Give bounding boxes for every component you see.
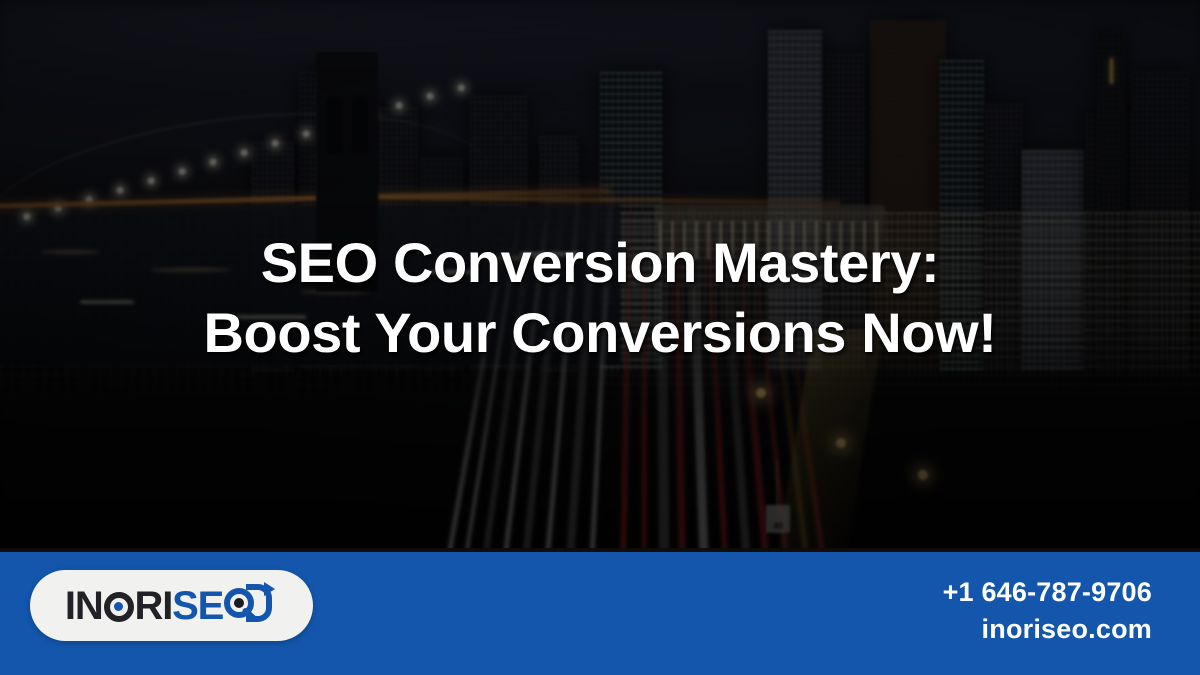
contact-block: +1 646-787-9706 inoriseo.com [943,574,1152,648]
magnifier-center-dot [234,598,244,608]
headline-line-1: SEO Conversion Mastery: [0,228,1200,298]
magnifier-arrow-icon [224,582,278,630]
footer-bar: IN RI SE [0,552,1200,675]
bullseye-center-dot [114,602,123,611]
bullseye-target-icon [104,592,134,622]
logo-inoriseo[interactable]: IN RI SE [30,570,313,641]
logo-text-se: SE [172,586,223,626]
logo-text-ri: RI [135,586,173,626]
contact-phone[interactable]: +1 646-787-9706 [943,574,1152,610]
headline-block: SEO Conversion Mastery: Boost Your Conve… [0,228,1200,368]
headline-line-2: Boost Your Conversions Now! [0,298,1200,368]
contact-website[interactable]: inoriseo.com [943,610,1152,648]
arrow-head-icon [264,582,275,596]
seo-marketing-banner: 40 SEO Conversion Mastery: Boost Your Co… [0,0,1200,675]
footer-inner: IN RI SE [0,552,1200,675]
logo-text-in: IN [65,586,103,626]
logo-wordmark: IN RI SE [65,585,278,627]
